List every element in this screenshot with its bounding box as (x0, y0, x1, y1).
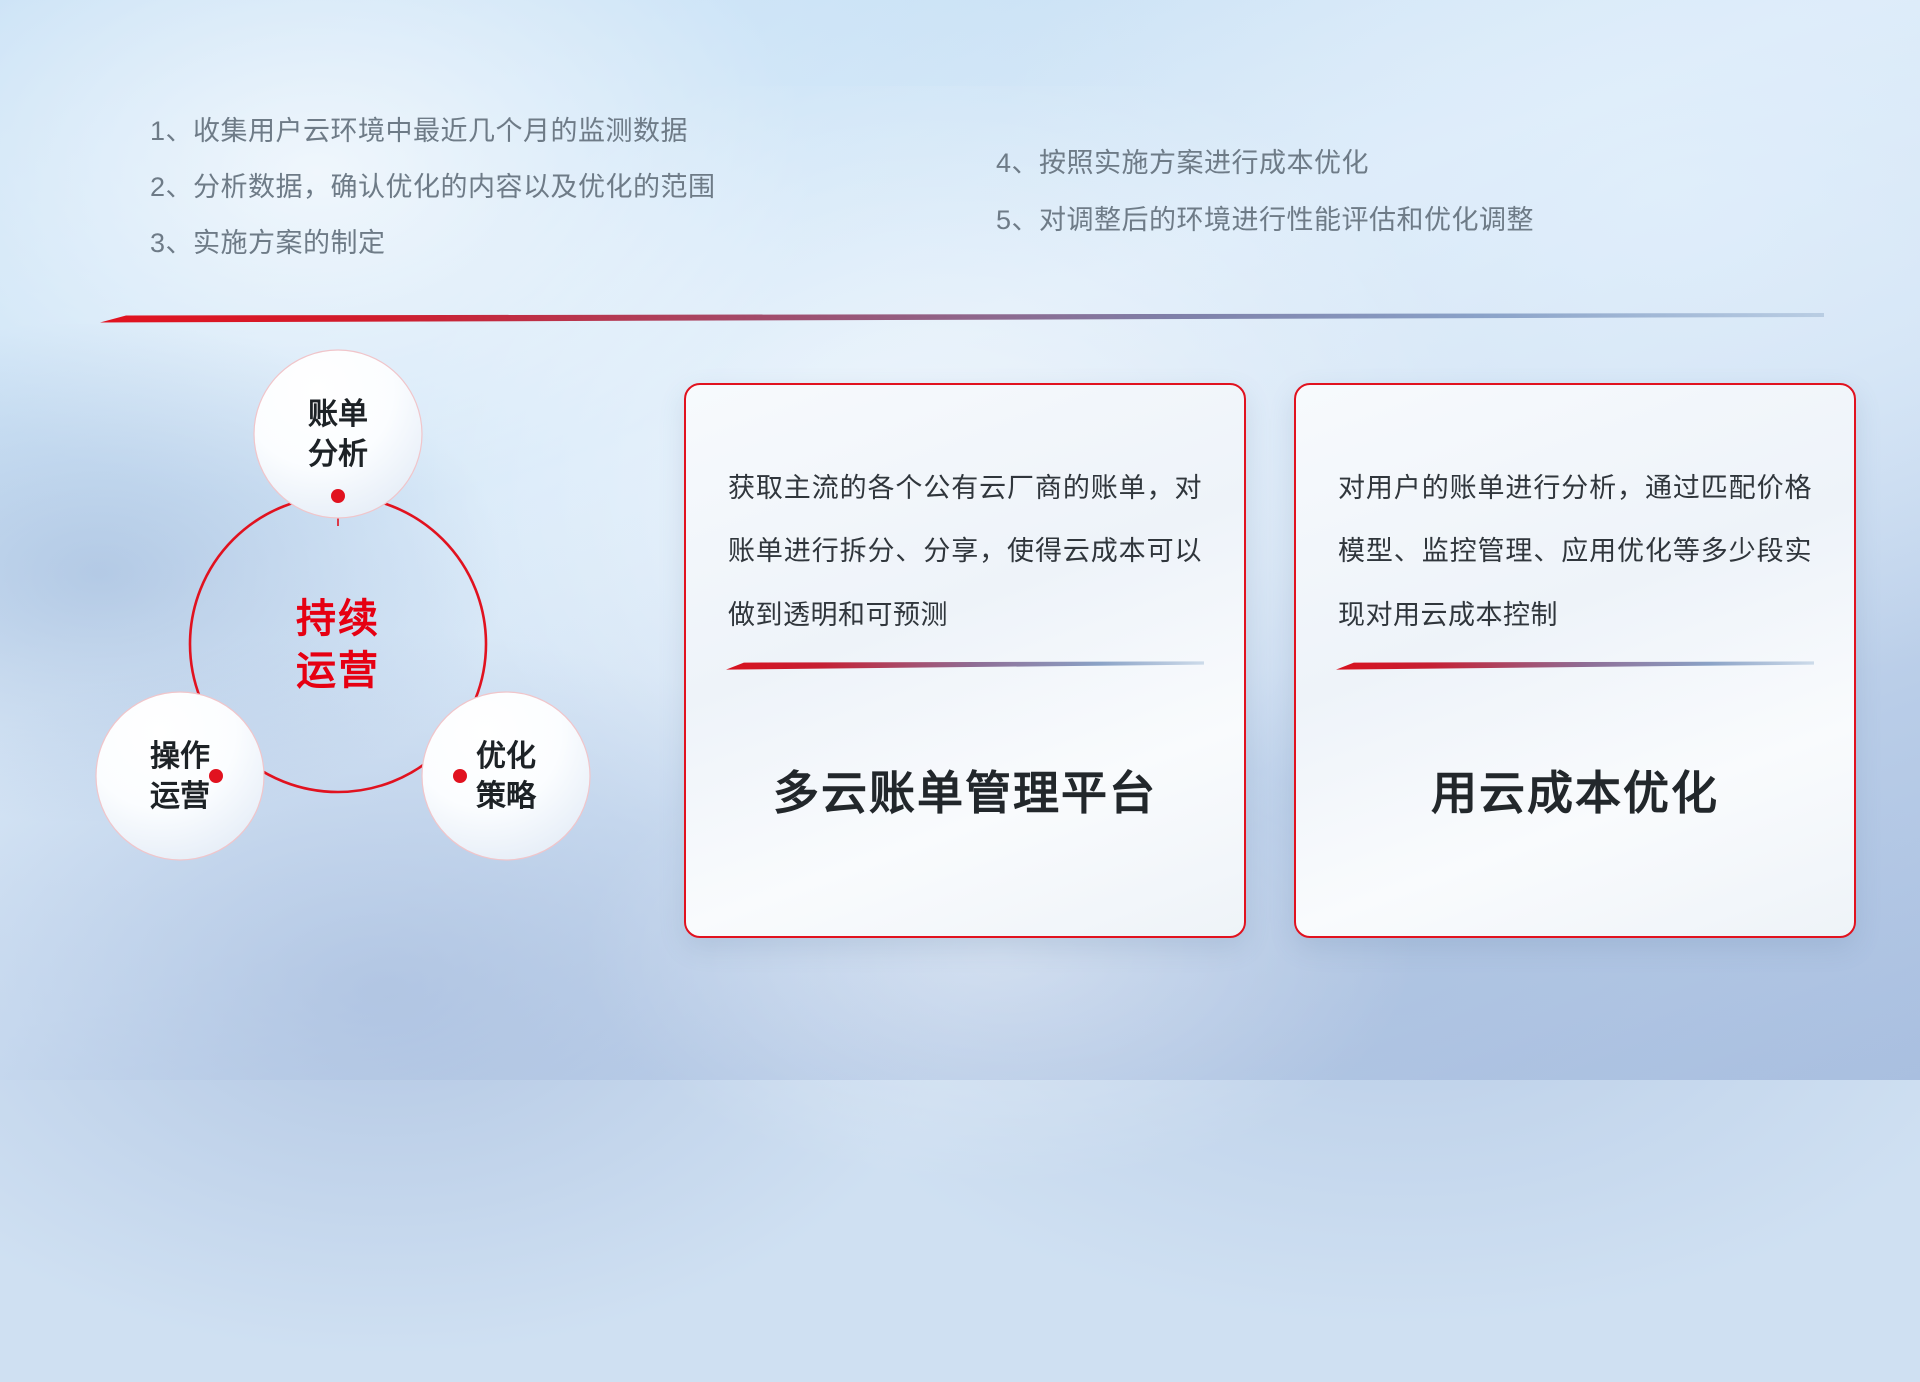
card-divider (1336, 661, 1814, 670)
cycle-node-label-line1: 优化 (476, 740, 536, 773)
steps-left-column: 1、收集用户云环境中最近几个月的监测数据 2、分析数据，确认优化的内容以及优化的… (150, 118, 890, 286)
card-title: 用云成本优化 (1296, 670, 1854, 936)
feature-card-multi-cloud-billing-platform[interactable]: 获取主流的各个公有云厂商的账单，对账单进行拆分、分享，使得云成本可以做到透明和可… (684, 383, 1246, 938)
steps-right-column: 4、按照实施方案进行成本优化 5、对调整后的环境进行性能评估和优化调整 (996, 150, 1756, 264)
cycle-node-label-line2: 运营 (150, 780, 210, 813)
step-item-1: 1、收集用户云环境中最近几个月的监测数据 (150, 118, 890, 145)
card-divider (726, 661, 1204, 670)
cycle-dot-bottom-right (453, 769, 467, 783)
card-body-text: 获取主流的各个公有云厂商的账单，对账单进行拆分、分享，使得云成本可以做到透明和可… (686, 385, 1244, 647)
cycle-node-label-line2: 策略 (476, 779, 537, 813)
feature-card-cloud-cost-optimization[interactable]: 对用户的账单进行分析，通过匹配价格模型、监控管理、应用优化等多少段实现对用云成本… (1294, 383, 1856, 938)
cycle-node-label-line1: 账单 (308, 398, 368, 431)
cycle-node-operations: 操作 运营 (96, 692, 264, 860)
slide-stage: 1、收集用户云环境中最近几个月的监测数据 2、分析数据，确认优化的内容以及优化的… (0, 0, 1920, 1080)
section-divider (100, 313, 1824, 323)
step-item-2: 2、分析数据，确认优化的内容以及优化的范围 (150, 174, 890, 201)
cycle-node-label-line1: 操作 (150, 740, 210, 773)
cycle-dot-top (331, 489, 345, 503)
cycle-center-label-line1: 持续 (296, 597, 380, 641)
card-body-text: 对用户的账单进行分析，通过匹配价格模型、监控管理、应用优化等多少段实现对用云成本… (1296, 385, 1854, 647)
cycle-node-label-line2: 分析 (308, 438, 368, 471)
cycle-node-optimization: 优化 策略 (422, 692, 590, 860)
card-title: 多云账单管理平台 (686, 670, 1244, 936)
step-item-5: 5、对调整后的环境进行性能评估和优化调整 (996, 207, 1756, 234)
cycle-diagram: 账单 分析 操作 运营 优化 策略 持续 运营 (88, 344, 648, 954)
cycle-center-label-line2: 运营 (296, 649, 380, 693)
cycle-dot-bottom-left (209, 769, 223, 783)
step-item-4: 4、按照实施方案进行成本优化 (996, 150, 1756, 177)
step-item-3: 3、实施方案的制定 (150, 230, 890, 257)
